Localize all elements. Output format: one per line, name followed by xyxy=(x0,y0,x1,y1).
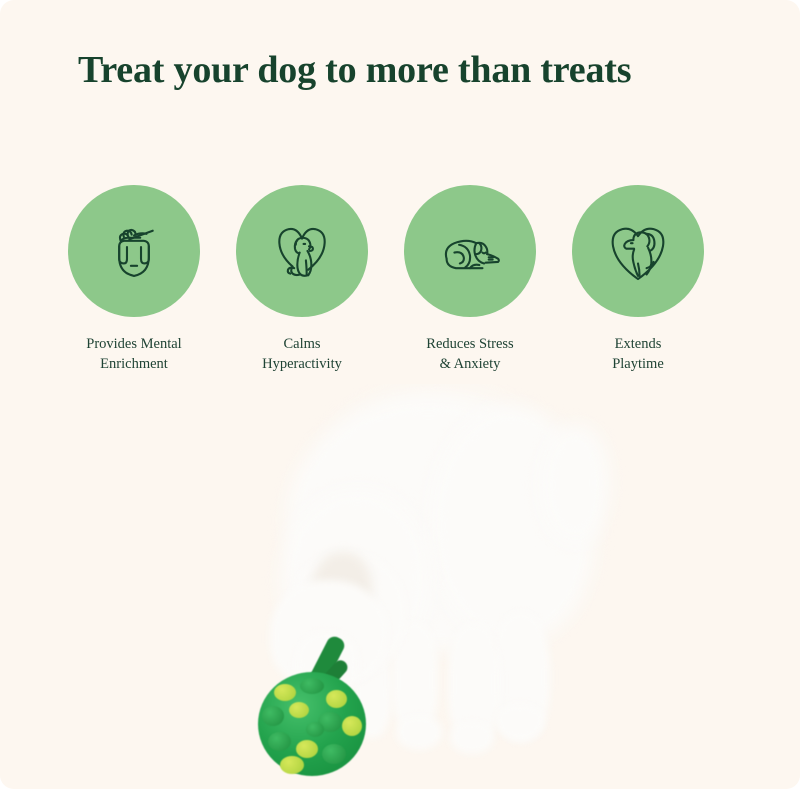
dog-in-heart-sitting-icon xyxy=(263,212,341,290)
page-title: Treat your dog to more than treats xyxy=(78,46,678,94)
dog-head-mental-enrichment-icon xyxy=(95,212,173,290)
benefit-icon-circle xyxy=(68,185,200,317)
benefit-icon-circle xyxy=(404,185,536,317)
toy-nub xyxy=(268,732,291,751)
toy-nub xyxy=(326,690,347,708)
toy-nub xyxy=(274,684,296,701)
benefit-label: Reduces Stress & Anxiety xyxy=(395,334,545,374)
benefit-label: Calms Hyperactivity xyxy=(227,334,377,374)
benefit-item-reduces-stress: Reduces Stress & Anxiety xyxy=(386,185,554,374)
toy-nub xyxy=(280,756,304,774)
dog-paw-rear xyxy=(496,704,544,740)
benefits-row: Provides Mental Enrichment xyxy=(50,185,762,374)
benefit-icon-circle xyxy=(236,185,368,317)
toy-nub xyxy=(289,702,309,718)
toy-nub xyxy=(262,706,284,726)
benefit-icon-circle xyxy=(572,185,704,317)
toy-nub xyxy=(296,740,318,758)
dog-heart-playtime-icon xyxy=(599,212,677,290)
toy-nub xyxy=(300,678,324,694)
benefit-item-calms-hyperactivity: Calms Hyperactivity xyxy=(218,185,386,374)
dog-tail xyxy=(540,424,610,544)
toy-nub xyxy=(342,716,362,736)
product-benefits-card: Treat your dog to more than treats xyxy=(0,0,800,789)
toy-nub xyxy=(322,744,346,764)
benefit-item-extends-playtime: Extends Playtime xyxy=(554,185,722,374)
benefit-label: Provides Mental Enrichment xyxy=(59,334,209,374)
dog-paw-middle xyxy=(450,722,494,754)
toy-nub xyxy=(306,722,324,737)
sleeping-dog-icon xyxy=(431,212,509,290)
dog-with-toy-illustration xyxy=(0,384,800,789)
dog-paw-front xyxy=(396,716,442,750)
snuffle-treat-ball-toy xyxy=(258,672,366,776)
benefit-item-mental-enrichment: Provides Mental Enrichment xyxy=(50,185,218,374)
product-photo: White fluffy dog bending down to play wi… xyxy=(0,384,800,789)
benefit-label: Extends Playtime xyxy=(563,334,713,374)
